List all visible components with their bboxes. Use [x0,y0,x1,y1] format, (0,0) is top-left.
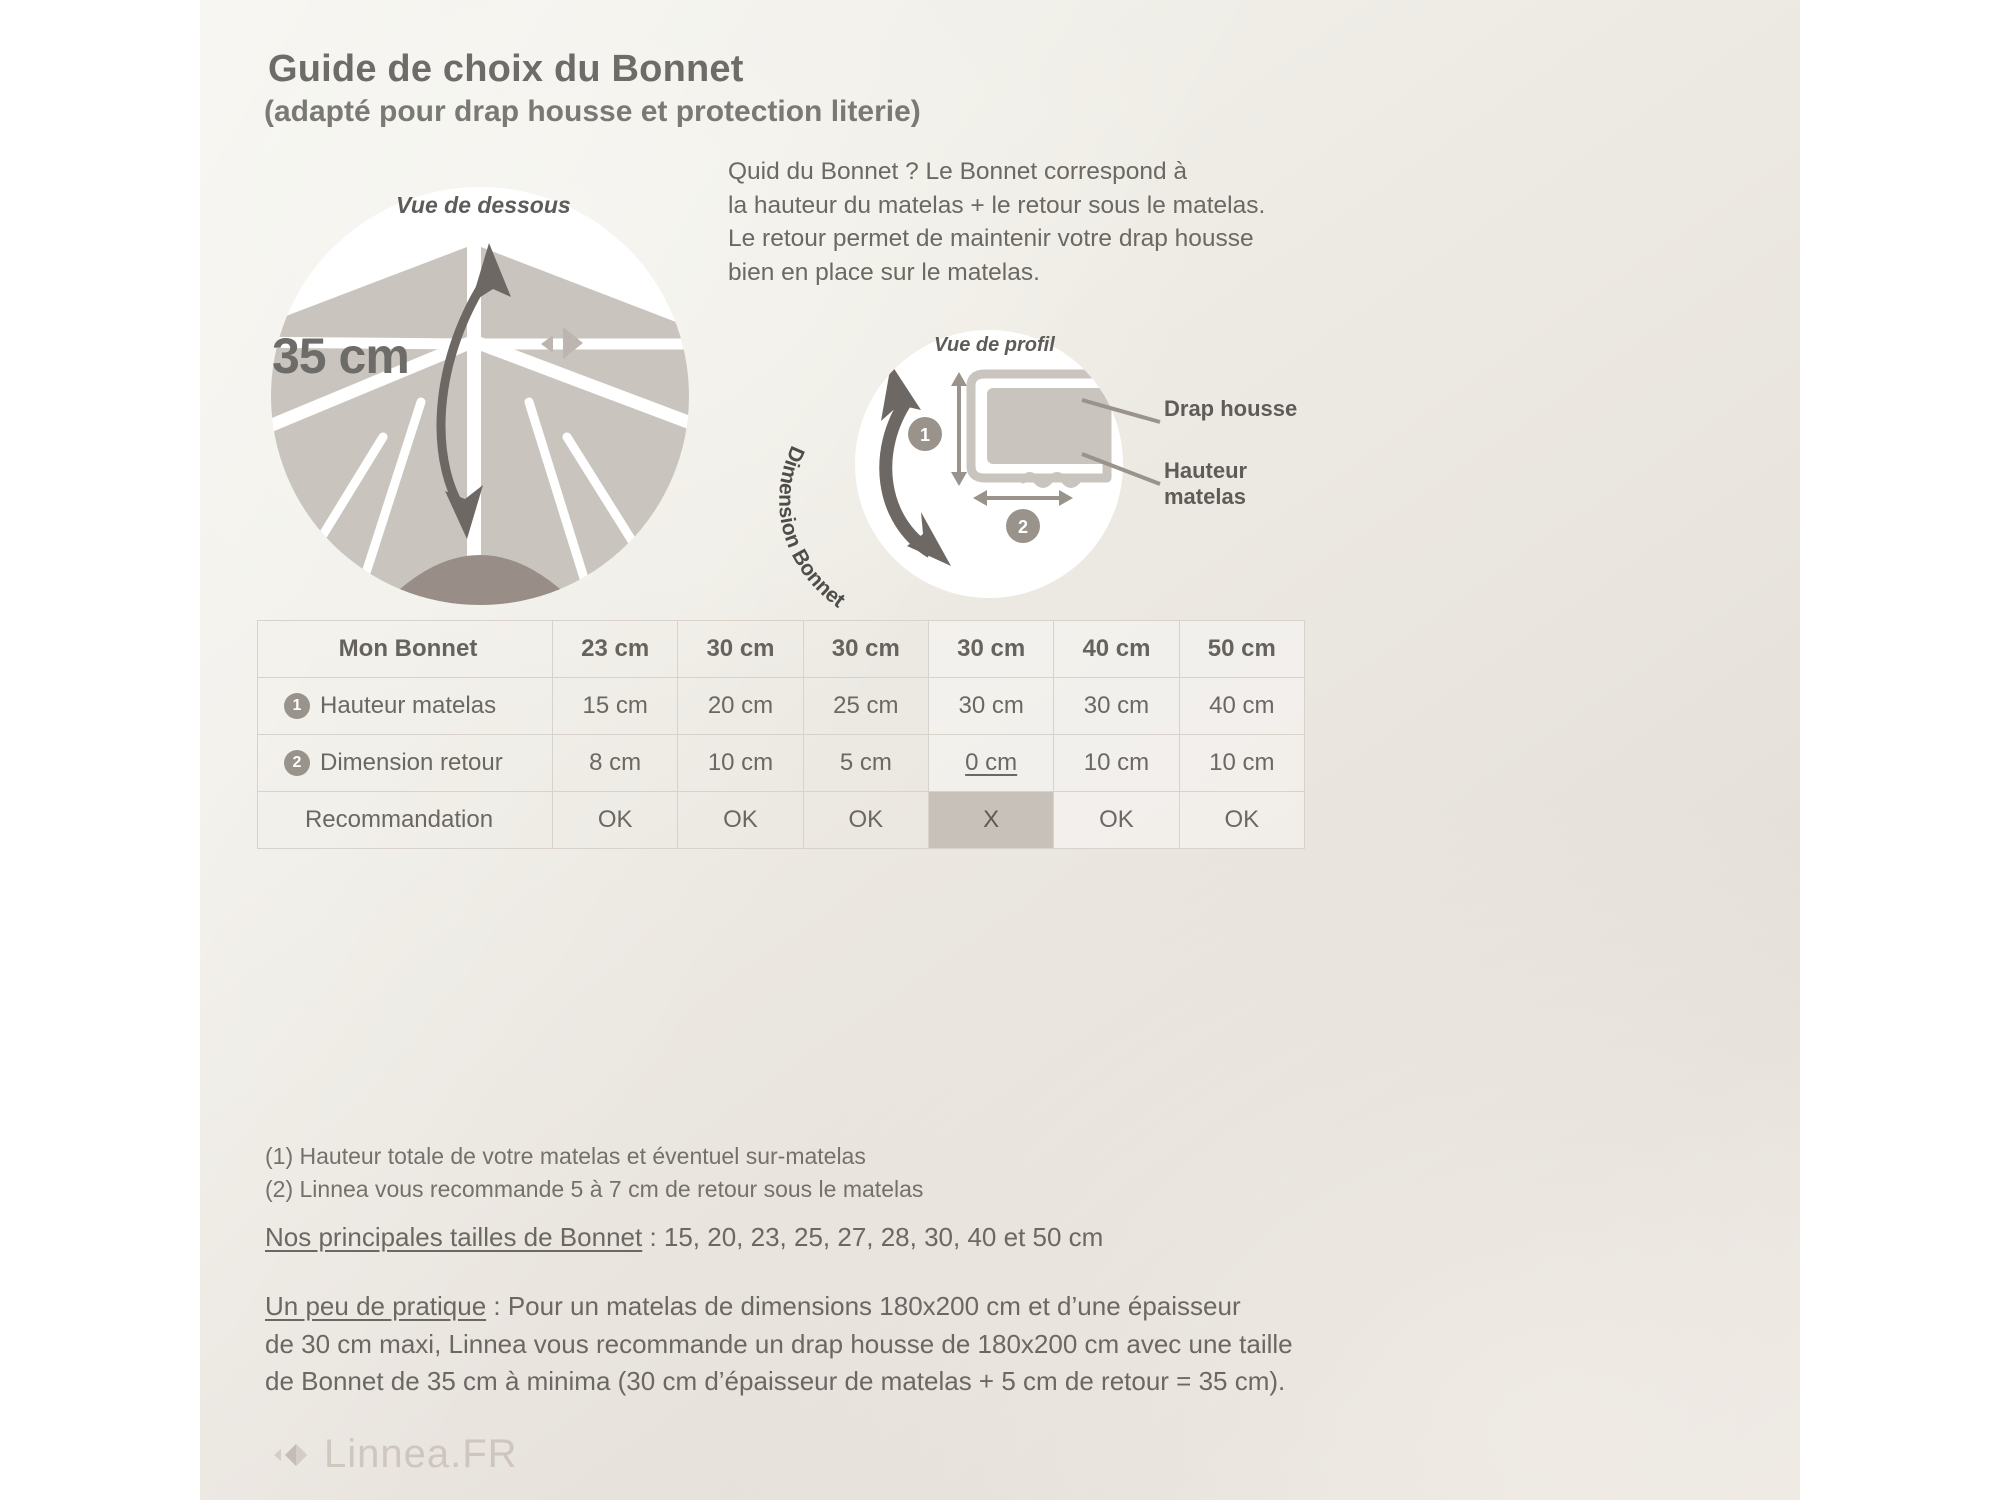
cell-reco-3: X [928,792,1053,849]
cell-hauteur-3: 30 cm [928,678,1053,735]
practice-line-3: de Bonnet de 35 cm à minima (30 cm d’épa… [265,1363,1615,1401]
row-label-recommandation: Recommandation [305,806,493,834]
intro-line-2: la hauteur du matelas + le retour sous l… [728,189,1328,223]
intro-line-4: bien en place sur le matelas. [728,256,1328,290]
page-subtitle: (adapté pour drap housse et protection l… [264,94,1214,130]
row-header-hauteur-matelas: 1 Hauteur matelas [258,678,553,735]
table-row: 2 Dimension retour 8 cm 10 cm 5 cm 0 cm … [258,735,1305,792]
cell-hauteur-5: 40 cm [1179,678,1304,735]
cell-reco-0: OK [553,792,678,849]
intro-line-3: Le retour permet de maintenir votre drap… [728,222,1328,256]
callout-drap-housse: Drap housse [1164,396,1297,422]
cell-reco-5: OK [1179,792,1304,849]
table-row: 1 Hauteur matelas 15 cm 20 cm 25 cm 30 c… [258,678,1305,735]
table-header-cell-0: Mon Bonnet [258,621,553,678]
badge-1-icon: 1 [284,693,310,719]
row-label-hauteur-matelas: Hauteur matelas [320,692,496,720]
table-row: Recommandation OK OK OK X OK OK [258,792,1305,849]
linnea-logo[interactable]: Linnea.FR [272,1432,518,1477]
infographic-root: Guide de choix du Bonnet (adapté pour dr… [0,0,2000,1500]
header-label-0: Mon Bonnet [339,635,478,663]
table-header-cell-6: 50 cm [1179,621,1304,678]
cell-hauteur-4: 30 cm [1054,678,1179,735]
mattress-corner-diagram [271,187,689,605]
cell-retour-1: 10 cm [678,735,803,792]
cell-hauteur-0: 15 cm [553,678,678,735]
bonnet-size-table: Mon Bonnet 23 cm 30 cm 30 cm 30 cm 40 cm… [257,620,1305,849]
cell-hauteur-2: 25 cm [803,678,928,735]
cell-retour-2: 5 cm [803,735,928,792]
cell-retour-3-value: 0 cm [965,749,1017,776]
table-body: Mon Bonnet 23 cm 30 cm 30 cm 30 cm 40 cm… [258,621,1305,849]
svg-text:1: 1 [920,425,930,445]
svg-text:2: 2 [1018,517,1028,537]
callout-hauteur-line-1: Hauteur [1164,458,1247,484]
practice-line-1: Un peu de pratique : Pour un matelas de … [265,1288,1615,1326]
footnote-2: (2) Linnea vous recommande 5 à 7 cm de r… [265,1173,1465,1206]
callout-hauteur-line-2: matelas [1164,484,1247,510]
table-header-row: Mon Bonnet 23 cm 30 cm 30 cm 30 cm 40 cm… [258,621,1305,678]
available-sizes-label: Nos principales tailles de Bonnet [265,1222,642,1252]
cell-retour-0: 8 cm [553,735,678,792]
intro-line-1: Quid du Bonnet ? Le Bonnet correspond à [728,155,1328,189]
practice-line-2: de 30 cm maxi, Linnea vous recommande un… [265,1326,1615,1364]
table-header-cell-4: 30 cm [928,621,1053,678]
badge-2-icon: 2 [284,750,310,776]
table-header-cell-3: 30 cm [803,621,928,678]
bonnet-measure-value: 35 cm [272,327,409,385]
intro-paragraph: Quid du Bonnet ? Le Bonnet correspond à … [728,155,1328,289]
callout-hauteur-matelas: Hauteur matelas [1164,458,1247,509]
footnote-1: (1) Hauteur totale de votre matelas et é… [265,1140,1465,1173]
badge-2-marker: 2 [1006,509,1040,543]
cell-reco-1: OK [678,792,803,849]
diamond-arrow-icon [272,1440,310,1470]
available-sizes-value: : 15, 20, 23, 25, 27, 28, 30, 40 et 50 c… [642,1222,1103,1252]
table-header-cell-5: 40 cm [1054,621,1179,678]
profile-view-label: Vue de profil [934,334,1055,357]
page-title: Guide de choix du Bonnet [268,48,1168,91]
table-header-cell-2: 30 cm [678,621,803,678]
cell-reco-2: OK [803,792,928,849]
badge-1-marker: 1 [908,417,942,451]
bottom-view-illustration [271,187,689,605]
practice-paragraph: Un peu de pratique : Pour un matelas de … [265,1288,1615,1401]
cell-retour-5: 10 cm [1179,735,1304,792]
row-header-recommandation: Recommandation [258,792,553,849]
footnotes: (1) Hauteur totale de votre matelas et é… [265,1140,1465,1205]
cell-retour-3: 0 cm [928,735,1053,792]
table-header-cell-1: 23 cm [553,621,678,678]
bonnet-rotation-arrow [881,364,951,566]
row-header-dimension-retour: 2 Dimension retour [258,735,553,792]
practice-label: Un peu de pratique [265,1291,486,1321]
row-label-dimension-retour: Dimension retour [320,749,503,777]
bottom-view-label: Vue de dessous [396,192,571,219]
cell-retour-4: 10 cm [1054,735,1179,792]
available-sizes-line: Nos principales tailles de Bonnet : 15, … [265,1222,1565,1253]
cell-hauteur-1: 20 cm [678,678,803,735]
practice-line-1-rest: : Pour un matelas de dimensions 180x200 … [486,1291,1240,1321]
logo-text: Linnea.FR [324,1432,518,1477]
cell-reco-4: OK [1054,792,1179,849]
